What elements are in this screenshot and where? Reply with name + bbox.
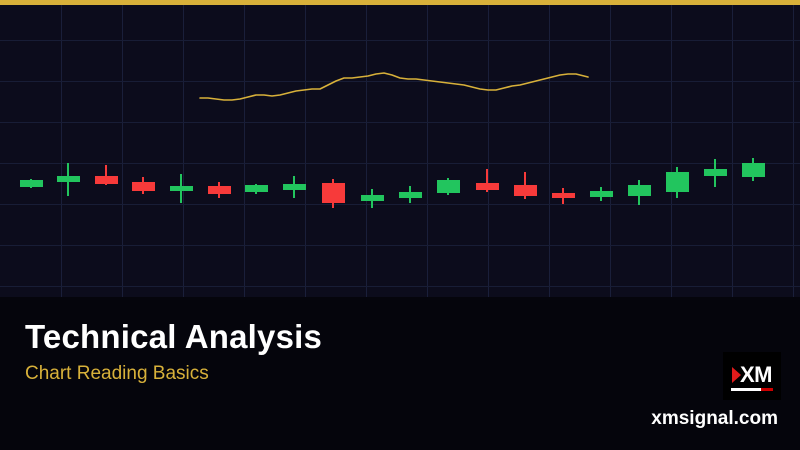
candle-body	[322, 183, 345, 203]
candle-body	[20, 180, 43, 187]
candle-body	[514, 185, 537, 196]
candle-body	[95, 176, 118, 184]
candle-body	[283, 184, 306, 190]
candle-body	[361, 195, 384, 201]
candlestick-series	[0, 5, 800, 297]
xm-logo-inner: XM	[723, 352, 781, 400]
candle-body	[552, 193, 575, 198]
page-title: Technical Analysis	[25, 318, 322, 356]
candle-body	[170, 186, 193, 191]
xm-logo-text: XM	[740, 363, 772, 387]
brand-domain-text[interactable]: xmsignal.com	[651, 408, 778, 430]
candle-body	[628, 185, 651, 196]
candle-body	[208, 186, 231, 194]
candle-body	[476, 183, 499, 190]
screenshot-root: Technical Analysis Chart Reading Basics …	[0, 0, 800, 450]
candle-body	[132, 182, 155, 191]
candle-body	[590, 191, 613, 197]
candle-body	[437, 180, 460, 193]
candlestick-chart-panel[interactable]	[0, 5, 800, 297]
candle-body	[245, 185, 268, 192]
xm-logo-underline-accent	[761, 388, 773, 391]
xm-logo[interactable]: XM	[723, 352, 781, 400]
candle-body	[742, 163, 765, 177]
page-subtitle: Chart Reading Basics	[25, 363, 209, 385]
candle-body	[399, 192, 422, 198]
candle-body	[57, 176, 80, 182]
candle-body	[704, 169, 727, 176]
candle-body	[666, 172, 689, 192]
